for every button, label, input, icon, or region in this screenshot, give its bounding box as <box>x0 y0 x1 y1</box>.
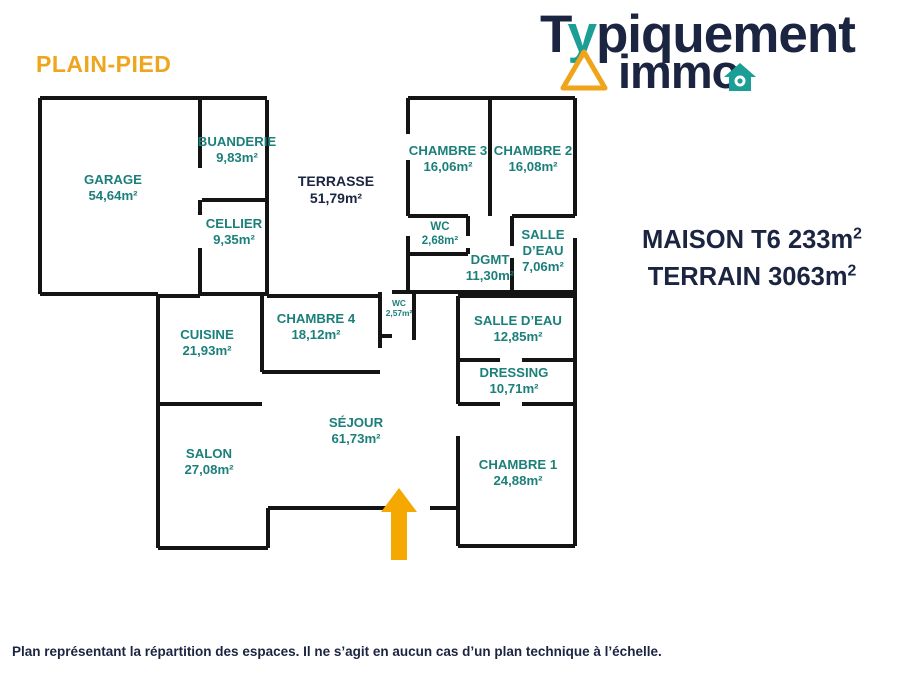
floor-plan-page: PLAIN-PIED Typiquement immo MAISON T6 23… <box>0 0 902 678</box>
wall-lines <box>40 98 575 548</box>
entrance-arrow-icon <box>381 488 417 560</box>
disclaimer-note: Plan représentant la répartition des esp… <box>12 644 662 659</box>
floor-plan-drawing <box>0 0 902 678</box>
